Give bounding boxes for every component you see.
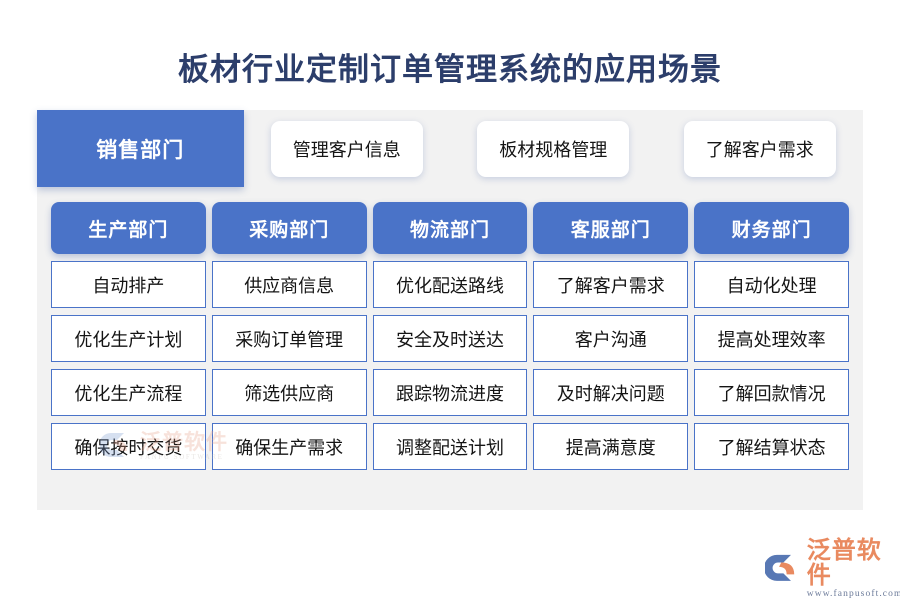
sales-primary-cell: 销售部门 bbox=[37, 110, 244, 187]
cell-finance-3[interactable]: 了解回款情况 bbox=[694, 369, 849, 416]
fanpu-logo-icon bbox=[765, 552, 802, 586]
brand-logo: 泛普软件 www.fanpusoft.com bbox=[765, 538, 900, 599]
page-title: 板材行业定制订单管理系统的应用场景 bbox=[0, 44, 900, 89]
cell-logistics-1[interactable]: 优化配送路线 bbox=[373, 261, 528, 308]
column-header-finance[interactable]: 财务部门 bbox=[694, 202, 849, 254]
department-grid: 生产部门 自动排产 优化生产计划 优化生产流程 确保按时交货 采购部门 供应商信… bbox=[51, 202, 849, 470]
column-header-production[interactable]: 生产部门 bbox=[51, 202, 206, 254]
cell-finance-2[interactable]: 提高处理效率 bbox=[694, 315, 849, 362]
cell-purchasing-4[interactable]: 确保生产需求 bbox=[212, 423, 367, 470]
cell-finance-4[interactable]: 了解结算状态 bbox=[694, 423, 849, 470]
cell-purchasing-3[interactable]: 筛选供应商 bbox=[212, 369, 367, 416]
diagram-panel: 销售部门 管理客户信息 板材规格管理 了解客户需求 生产部门 自动排产 优化生产… bbox=[37, 110, 863, 510]
sales-item-manage-customer-info[interactable]: 管理客户信息 bbox=[271, 121, 423, 177]
cell-logistics-2[interactable]: 安全及时送达 bbox=[373, 315, 528, 362]
cell-production-4[interactable]: 确保按时交货 bbox=[51, 423, 206, 470]
column-finance: 财务部门 自动化处理 提高处理效率 了解回款情况 了解结算状态 bbox=[694, 202, 849, 470]
cell-customer-service-3[interactable]: 及时解决问题 bbox=[533, 369, 688, 416]
cell-customer-service-4[interactable]: 提高满意度 bbox=[533, 423, 688, 470]
sales-item-cell-1: 管理客户信息 bbox=[244, 110, 451, 187]
column-logistics: 物流部门 优化配送路线 安全及时送达 跟踪物流进度 调整配送计划 bbox=[373, 202, 528, 470]
cell-customer-service-2[interactable]: 客户沟通 bbox=[533, 315, 688, 362]
sales-item-cell-3: 了解客户需求 bbox=[657, 110, 864, 187]
column-header-logistics[interactable]: 物流部门 bbox=[373, 202, 528, 254]
column-customer-service: 客服部门 了解客户需求 客户沟通 及时解决问题 提高满意度 bbox=[533, 202, 688, 470]
sales-item-board-spec-management[interactable]: 板材规格管理 bbox=[477, 121, 629, 177]
sales-department-box[interactable]: 销售部门 bbox=[37, 110, 244, 187]
cell-logistics-3[interactable]: 跟踪物流进度 bbox=[373, 369, 528, 416]
column-header-customer-service[interactable]: 客服部门 bbox=[533, 202, 688, 254]
cell-logistics-4[interactable]: 调整配送计划 bbox=[373, 423, 528, 470]
column-header-purchasing[interactable]: 采购部门 bbox=[212, 202, 367, 254]
column-purchasing: 采购部门 供应商信息 采购订单管理 筛选供应商 确保生产需求 bbox=[212, 202, 367, 470]
cell-production-2[interactable]: 优化生产计划 bbox=[51, 315, 206, 362]
brand-name: 泛普软件 bbox=[807, 538, 900, 588]
cell-production-3[interactable]: 优化生产流程 bbox=[51, 369, 206, 416]
column-production: 生产部门 自动排产 优化生产计划 优化生产流程 确保按时交货 bbox=[51, 202, 206, 470]
sales-row: 销售部门 管理客户信息 板材规格管理 了解客户需求 bbox=[37, 110, 863, 187]
cell-production-1[interactable]: 自动排产 bbox=[51, 261, 206, 308]
cell-purchasing-2[interactable]: 采购订单管理 bbox=[212, 315, 367, 362]
brand-url: www.fanpusoft.com bbox=[807, 589, 900, 599]
cell-customer-service-1[interactable]: 了解客户需求 bbox=[533, 261, 688, 308]
sales-item-understand-customer-needs[interactable]: 了解客户需求 bbox=[684, 121, 836, 177]
sales-item-cell-2: 板材规格管理 bbox=[450, 110, 657, 187]
cell-finance-1[interactable]: 自动化处理 bbox=[694, 261, 849, 308]
cell-purchasing-1[interactable]: 供应商信息 bbox=[212, 261, 367, 308]
